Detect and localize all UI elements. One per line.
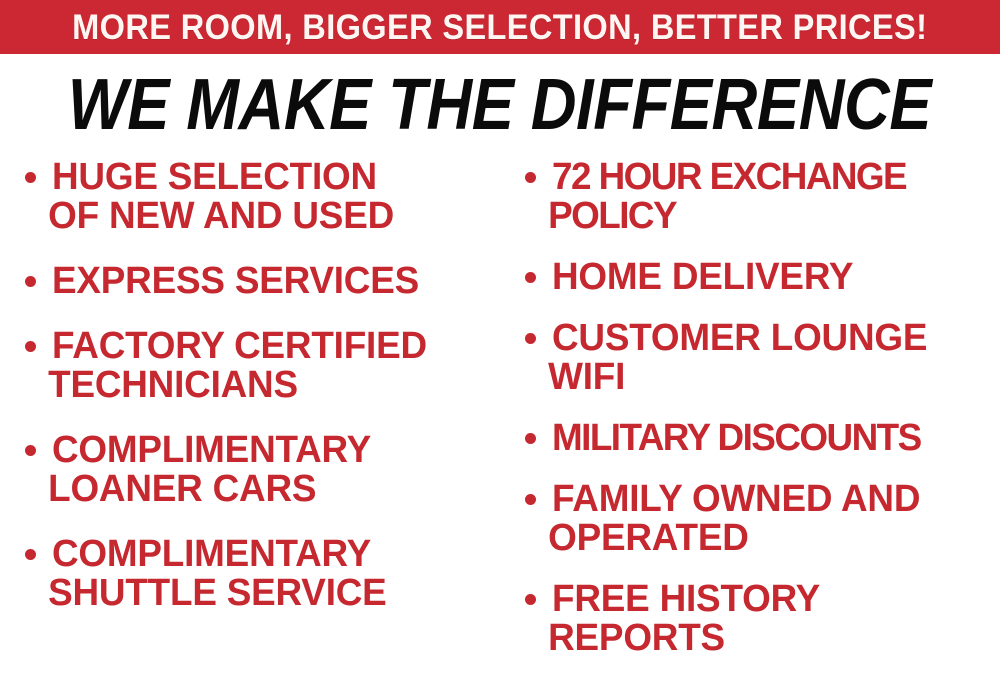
promo-banner-text: MORE ROOM, BIGGER SELECTION, BETTER PRIC… — [72, 10, 927, 45]
list-item: HUGE SELECTION OF NEW AND USED — [14, 158, 500, 236]
round-bullet-icon — [525, 272, 536, 283]
list-item-line-2: REPORTS — [548, 619, 986, 658]
list-item-line-1: HOME DELIVERY — [552, 256, 853, 298]
list-item-line-1: CUSTOMER LOUNGE — [552, 317, 927, 359]
list-item-text: MILITARY DISCOUNTS — [552, 419, 987, 458]
benefits-columns: HUGE SELECTION OF NEW AND USED EXPRESS S… — [0, 158, 1000, 694]
headline: WE MAKE THE DIFFERENCE — [0, 69, 1000, 141]
list-item-line-1: FACTORY CERTIFIED — [52, 325, 427, 367]
list-item-line-1: MILITARY DISCOUNTS — [552, 417, 921, 459]
list-item: 72 HOUR EXCHANGE POLICY — [514, 158, 1000, 236]
list-item-text: 72 HOUR EXCHANGE POLICY — [552, 158, 987, 236]
list-item: FREE HISTORY REPORTS — [514, 580, 1000, 658]
list-item-line-2: OF NEW AND USED — [48, 197, 486, 236]
list-item-text: FAMILY OWNED AND OPERATED — [552, 480, 987, 558]
list-item: FACTORY CERTIFIED TECHNICIANS — [14, 327, 500, 405]
list-item: COMPLIMENTARY SHUTTLE SERVICE — [14, 535, 500, 613]
list-item: CUSTOMER LOUNGE WIFI — [514, 319, 1000, 397]
round-bullet-icon — [525, 333, 536, 344]
list-item-line-2: SHUTTLE SERVICE — [48, 574, 486, 613]
list-item-text: COMPLIMENTARY SHUTTLE SERVICE — [52, 535, 487, 613]
list-item: EXPRESS SERVICES — [14, 262, 500, 301]
list-item-line-1: 72 HOUR EXCHANGE — [552, 156, 906, 198]
list-item-line-1: HUGE SELECTION — [52, 156, 377, 198]
list-item-line-1: EXPRESS SERVICES — [52, 260, 419, 302]
promo-banner: MORE ROOM, BIGGER SELECTION, BETTER PRIC… — [0, 0, 1000, 54]
list-item-text: EXPRESS SERVICES — [52, 262, 487, 301]
round-bullet-icon — [525, 494, 536, 505]
round-bullet-icon — [525, 594, 536, 605]
round-bullet-icon — [25, 341, 36, 352]
list-item-text: FREE HISTORY REPORTS — [552, 580, 987, 658]
list-item-text: FACTORY CERTIFIED TECHNICIANS — [52, 327, 487, 405]
list-item: COMPLIMENTARY LOANER CARS — [14, 431, 500, 509]
list-item-line-2: WIFI — [548, 358, 986, 397]
list-item: HOME DELIVERY — [514, 258, 1000, 297]
headline-text: WE MAKE THE DIFFERENCE — [68, 69, 931, 141]
round-bullet-icon — [25, 445, 36, 456]
list-item-line-2: POLICY — [548, 197, 986, 236]
list-item-text: COMPLIMENTARY LOANER CARS — [52, 431, 487, 509]
list-item-line-1: FREE HISTORY — [552, 578, 820, 620]
list-item-line-2: OPERATED — [548, 519, 986, 558]
round-bullet-icon — [25, 172, 36, 183]
round-bullet-icon — [525, 433, 536, 444]
list-item-line-1: COMPLIMENTARY — [52, 533, 371, 575]
benefits-column-left: HUGE SELECTION OF NEW AND USED EXPRESS S… — [14, 158, 500, 694]
list-item-text: CUSTOMER LOUNGE WIFI — [552, 319, 987, 397]
round-bullet-icon — [525, 172, 536, 183]
list-item-line-1: FAMILY OWNED AND — [552, 478, 920, 520]
benefits-column-right: 72 HOUR EXCHANGE POLICY HOME DELIVERY CU… — [514, 158, 1000, 694]
round-bullet-icon — [25, 549, 36, 560]
list-item-line-1: COMPLIMENTARY — [52, 429, 371, 471]
list-item: MILITARY DISCOUNTS — [514, 419, 1000, 458]
list-item-text: HUGE SELECTION OF NEW AND USED — [52, 158, 487, 236]
list-item-line-2: LOANER CARS — [48, 470, 486, 509]
list-item-text: HOME DELIVERY — [552, 258, 987, 297]
round-bullet-icon — [25, 276, 36, 287]
list-item-line-2: TECHNICIANS — [48, 366, 486, 405]
list-item: FAMILY OWNED AND OPERATED — [514, 480, 1000, 558]
